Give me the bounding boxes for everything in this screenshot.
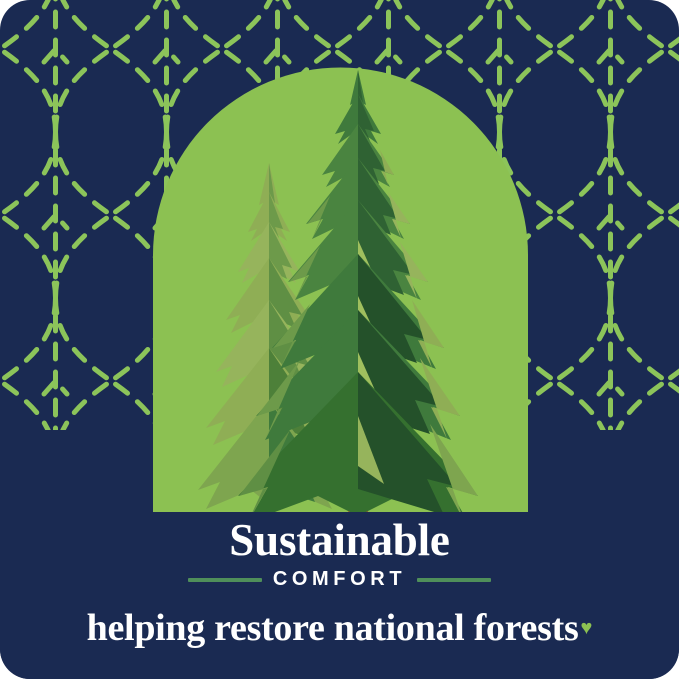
tagline-text: helping restore national forests [87,607,579,649]
rule-left [188,578,262,582]
tagline-row: helping restore national forests ♥ [0,607,679,649]
heart-icon: ♥ [580,618,592,638]
brand-subtitle: COMFORT [273,568,406,591]
rule-right [417,578,491,582]
brand-lockup: Sustainable COMFORT helping restore nati… [0,516,679,649]
brand-subtitle-row: COMFORT [0,568,679,591]
brand-name: Sustainable [0,516,679,564]
sustainable-comfort-card: Sustainable COMFORT helping restore nati… [0,0,679,679]
